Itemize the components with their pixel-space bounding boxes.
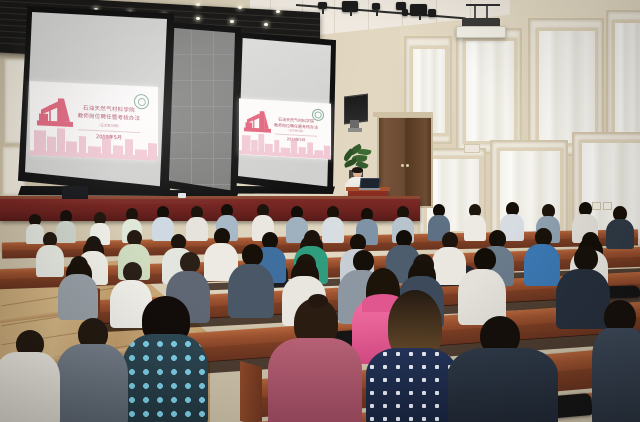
torso xyxy=(0,352,60,422)
torso xyxy=(56,344,128,422)
desk-row-1-end xyxy=(240,361,262,422)
torso xyxy=(592,328,640,422)
person-front-dark-navy xyxy=(448,316,558,422)
presenter-hair xyxy=(352,167,363,173)
person-front-rose-tshirt xyxy=(268,298,362,422)
spotlight-arm xyxy=(322,8,324,14)
list-item xyxy=(524,228,560,282)
wall-acoustic-panel xyxy=(536,28,598,146)
screen-center-surface xyxy=(169,28,235,192)
speaker-bracket xyxy=(348,128,362,132)
spotlight-arm xyxy=(419,15,421,20)
stage-spotlight-icon xyxy=(428,9,436,17)
person-front-left-teal xyxy=(0,330,60,422)
ceiling-downlight xyxy=(264,23,268,26)
door-frame-top xyxy=(373,112,433,117)
wall-outlet xyxy=(464,144,480,153)
city-skyline-graphic xyxy=(30,124,158,161)
list-item xyxy=(58,256,98,316)
person-front-left-grey xyxy=(56,318,128,422)
lecture-hall-photo: 石油天然气材料学院 教师岗位聘任暨考核办法 （征求意见稿） 2019年5月 xyxy=(0,0,640,422)
screen-center-grid xyxy=(169,28,235,192)
torso xyxy=(366,348,458,422)
torso xyxy=(448,348,558,422)
ceiling-downlight xyxy=(230,20,234,23)
slide-left: 石油天然气材料学院 教师岗位聘任暨考核办法 （征求意见稿） 2019年5月 xyxy=(30,81,158,161)
stage-table-item xyxy=(178,193,186,198)
ceiling-downlight xyxy=(196,3,200,6)
stage-chair xyxy=(62,186,88,199)
projector-body xyxy=(456,26,506,38)
laptop-base xyxy=(359,188,380,190)
wall-acoustic-panel xyxy=(463,38,517,144)
door-knob-icon[interactable] xyxy=(401,164,404,167)
torso xyxy=(268,338,362,422)
list-item xyxy=(606,206,634,246)
screen-right-bottom-bar xyxy=(232,186,336,194)
stage-spotlight-icon xyxy=(402,9,408,16)
ceiling-downlight xyxy=(196,17,200,20)
ceiling-downlight xyxy=(238,6,242,9)
person-front-navy-polka xyxy=(366,290,458,422)
hair-bun xyxy=(308,294,328,308)
ceiling-downlight xyxy=(276,10,280,13)
spotlight-arm xyxy=(376,9,378,16)
torso xyxy=(122,334,208,422)
slide-right: 石油天然气材料学院 教师岗位聘任暨考核办法 （征求意见稿） 2019年5月 xyxy=(239,98,331,159)
person-right-edge xyxy=(592,300,640,422)
list-item xyxy=(458,248,506,320)
spotlight-arm xyxy=(350,11,352,16)
person-front-patterned-vest xyxy=(122,296,208,422)
wall-acoustic-panel xyxy=(612,20,640,150)
door-knob-icon[interactable] xyxy=(406,164,409,167)
projector-bracket xyxy=(466,4,500,6)
screen-left-bottom-bar xyxy=(18,186,174,196)
